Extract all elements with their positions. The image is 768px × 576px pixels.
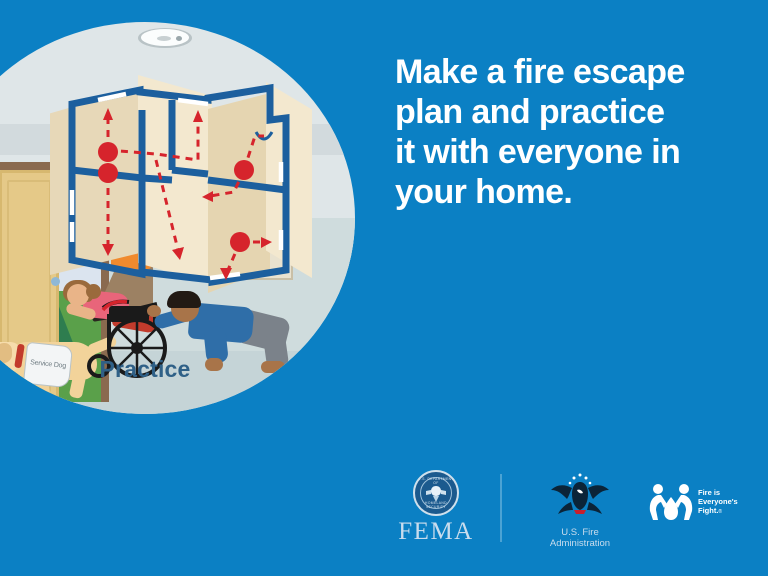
two-figures-flame-icon — [648, 482, 694, 522]
fire-is-everyones-fight-logo: Fire is Everyone's Fight.® — [648, 482, 752, 522]
usfa-caption-line-2: Administration — [520, 538, 640, 549]
feaf-wordmark: Fire is Everyone's Fight.® — [698, 488, 738, 517]
logo-divider — [500, 474, 502, 542]
feaf-line-3-text: Fight. — [698, 506, 718, 515]
usfa-caption: U.S. Fire Administration — [520, 527, 640, 549]
logo-bar: U.S. DEPARTMENT OF HOMELAND SECURITY FEM… — [380, 468, 748, 552]
illustration-circle: Service Dog — [0, 22, 355, 414]
fema-logo: U.S. DEPARTMENT OF HOMELAND SECURITY FEM… — [388, 470, 484, 545]
dhs-eagle-icon — [424, 484, 448, 504]
poster-canvas: Service Dog — [0, 0, 768, 576]
registered-mark: ® — [718, 509, 722, 515]
page-title: Make a fire escape plan and practice it … — [395, 52, 725, 212]
usfa-logo: U.S. Fire Administration — [520, 472, 640, 549]
feaf-line-3: Fight.® — [698, 506, 738, 517]
feaf-line-2: Everyone's — [698, 497, 738, 506]
headline-line-4: your home. — [395, 172, 725, 212]
headline-line-3: it with everyone in — [395, 132, 725, 172]
headline-line-2: plan and practice — [395, 92, 725, 132]
fema-wordmark: FEMA — [388, 519, 484, 545]
smoke-alarm-led — [176, 36, 182, 41]
man-hair — [167, 291, 201, 308]
escape-plan-map — [50, 70, 312, 300]
smoke-alarm-vent — [157, 36, 171, 41]
feaf-line-1: Fire is — [698, 488, 738, 497]
usfa-caption-line-1: U.S. Fire — [520, 527, 640, 538]
dhs-seal-icon: U.S. DEPARTMENT OF HOMELAND SECURITY — [413, 470, 459, 516]
practice-caption: Practice — [0, 356, 355, 383]
usfa-eagle-icon — [549, 472, 611, 520]
man-reaching-hand — [147, 305, 161, 317]
headline-line-1: Make a fire escape — [395, 52, 725, 92]
circle-background: Service Dog — [0, 22, 355, 414]
floor-plan-drawing — [50, 70, 312, 300]
